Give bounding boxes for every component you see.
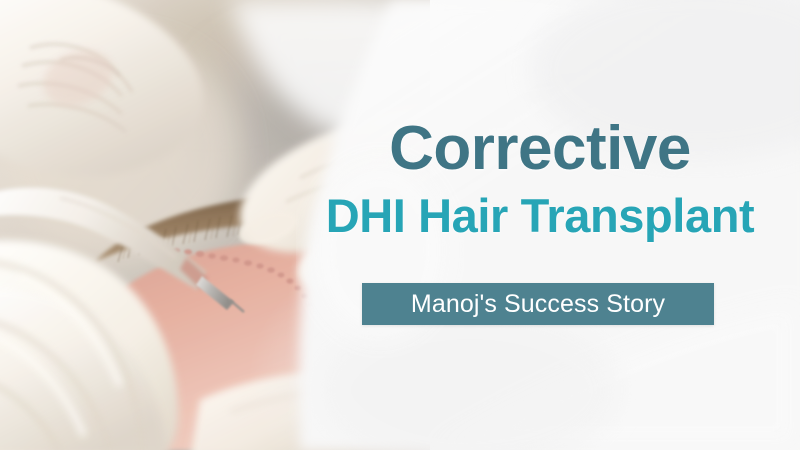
subtitle-banner: Manoj's Success Story	[362, 283, 714, 325]
subtitle-text: Manoj's Success Story	[411, 290, 665, 319]
headline-block: Corrective DHI Hair Transplant	[290, 118, 790, 239]
headline-primary: Corrective	[290, 118, 790, 180]
headline-secondary: DHI Hair Transplant	[290, 192, 790, 239]
promo-banner: Corrective DHI Hair Transplant Manoj's S…	[0, 0, 800, 450]
